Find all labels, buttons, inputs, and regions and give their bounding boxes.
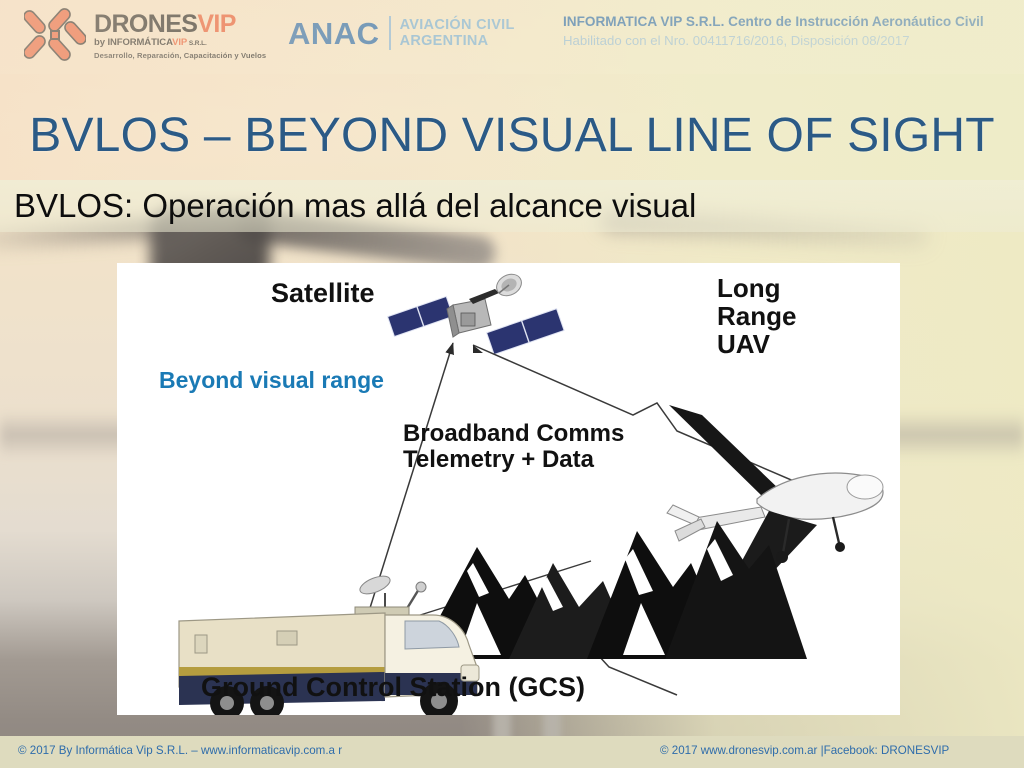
slide-subtitle: BVLOS: Operación mas allá del alcance vi… xyxy=(14,183,696,229)
satellite-icon xyxy=(388,270,564,354)
diagram-label-long-range-uav-line2: Range xyxy=(717,302,796,330)
diagram-label-long-range-uav: Long Range UAV xyxy=(717,274,796,358)
page-title: BVLOS – BEYOND VISUAL LINE OF SIGHT xyxy=(0,108,1024,163)
diagram-label-satellite: Satellite xyxy=(271,279,375,308)
diagram-label-broadband-comms: Broadband Comms Telemetry + Data xyxy=(403,421,624,473)
slide-header xyxy=(0,0,1024,74)
footer-copyright-left: © 2017 By Informática Vip S.R.L. – www.i… xyxy=(18,744,342,757)
diagram-label-long-range-uav-line1: Long xyxy=(717,274,796,302)
diagram-label-long-range-uav-line3: UAV xyxy=(717,330,796,358)
diagram-label-ground-control-station: Ground Control Station (GCS) xyxy=(201,673,585,702)
mountain-range-icon xyxy=(417,521,807,659)
diagram-label-broadband-line2: Telemetry + Data xyxy=(403,447,624,473)
header-background-wash xyxy=(0,0,1024,74)
diagram-label-broadband-line1: Broadband Comms xyxy=(403,421,624,447)
slide: DRONESVIP by INFORMÁTICAVIP S.R.L. Desar… xyxy=(0,0,1024,768)
footer-copyright-right: © 2017 www.dronesvip.com.ar |Facebook: D… xyxy=(660,744,949,757)
bvlos-diagram-panel: Satellite Beyond visual range Long Range… xyxy=(117,263,900,715)
diagram-label-beyond-visual-range: Beyond visual range xyxy=(159,368,384,393)
